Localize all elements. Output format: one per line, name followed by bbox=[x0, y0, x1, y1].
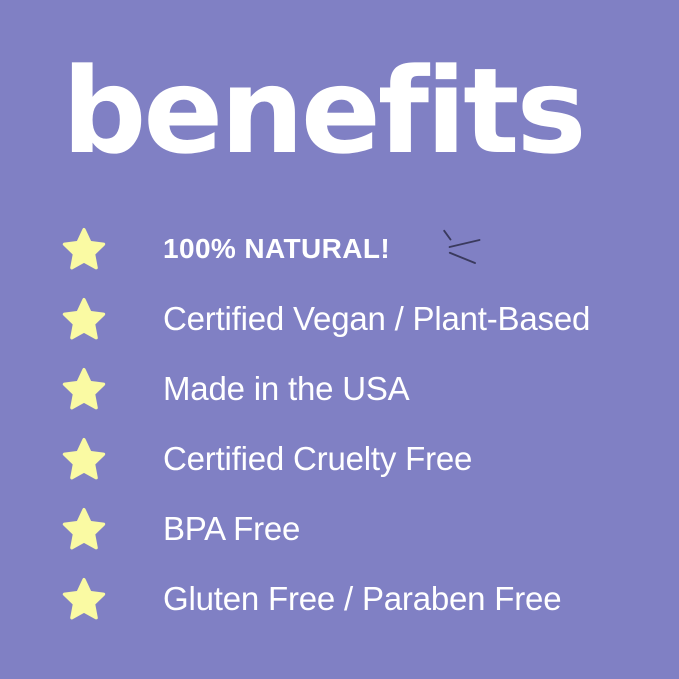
benefits-poster: benefits 100% NATURAL! bbox=[0, 0, 679, 679]
list-item: Certified Cruelty Free bbox=[0, 424, 679, 494]
page-title-block: benefits bbox=[62, 52, 622, 172]
list-item: 100% NATURAL! bbox=[0, 214, 679, 284]
list-item-label: Certified Vegan / Plant-Based bbox=[163, 301, 590, 337]
star-icon bbox=[62, 297, 106, 341]
star-icon bbox=[62, 367, 106, 411]
benefits-list: 100% NATURAL! Certified Vegan / Plant-Ba… bbox=[0, 214, 679, 634]
star-icon bbox=[62, 577, 106, 621]
list-item: Gluten Free / Paraben Free bbox=[0, 564, 679, 634]
list-item-label: Made in the USA bbox=[163, 371, 409, 407]
list-item-label: BPA Free bbox=[163, 511, 300, 547]
star-icon bbox=[62, 507, 106, 551]
list-item-label: Gluten Free / Paraben Free bbox=[163, 581, 561, 617]
list-item: Certified Vegan / Plant-Based bbox=[0, 284, 679, 354]
star-icon bbox=[62, 437, 106, 481]
page-title: benefits bbox=[62, 52, 622, 170]
list-item-label: Certified Cruelty Free bbox=[163, 441, 472, 477]
list-item: Made in the USA bbox=[0, 354, 679, 424]
sparkle-icon bbox=[437, 220, 495, 278]
list-item: BPA Free bbox=[0, 494, 679, 564]
list-item-label: 100% NATURAL! bbox=[163, 231, 390, 267]
star-icon bbox=[62, 227, 106, 271]
